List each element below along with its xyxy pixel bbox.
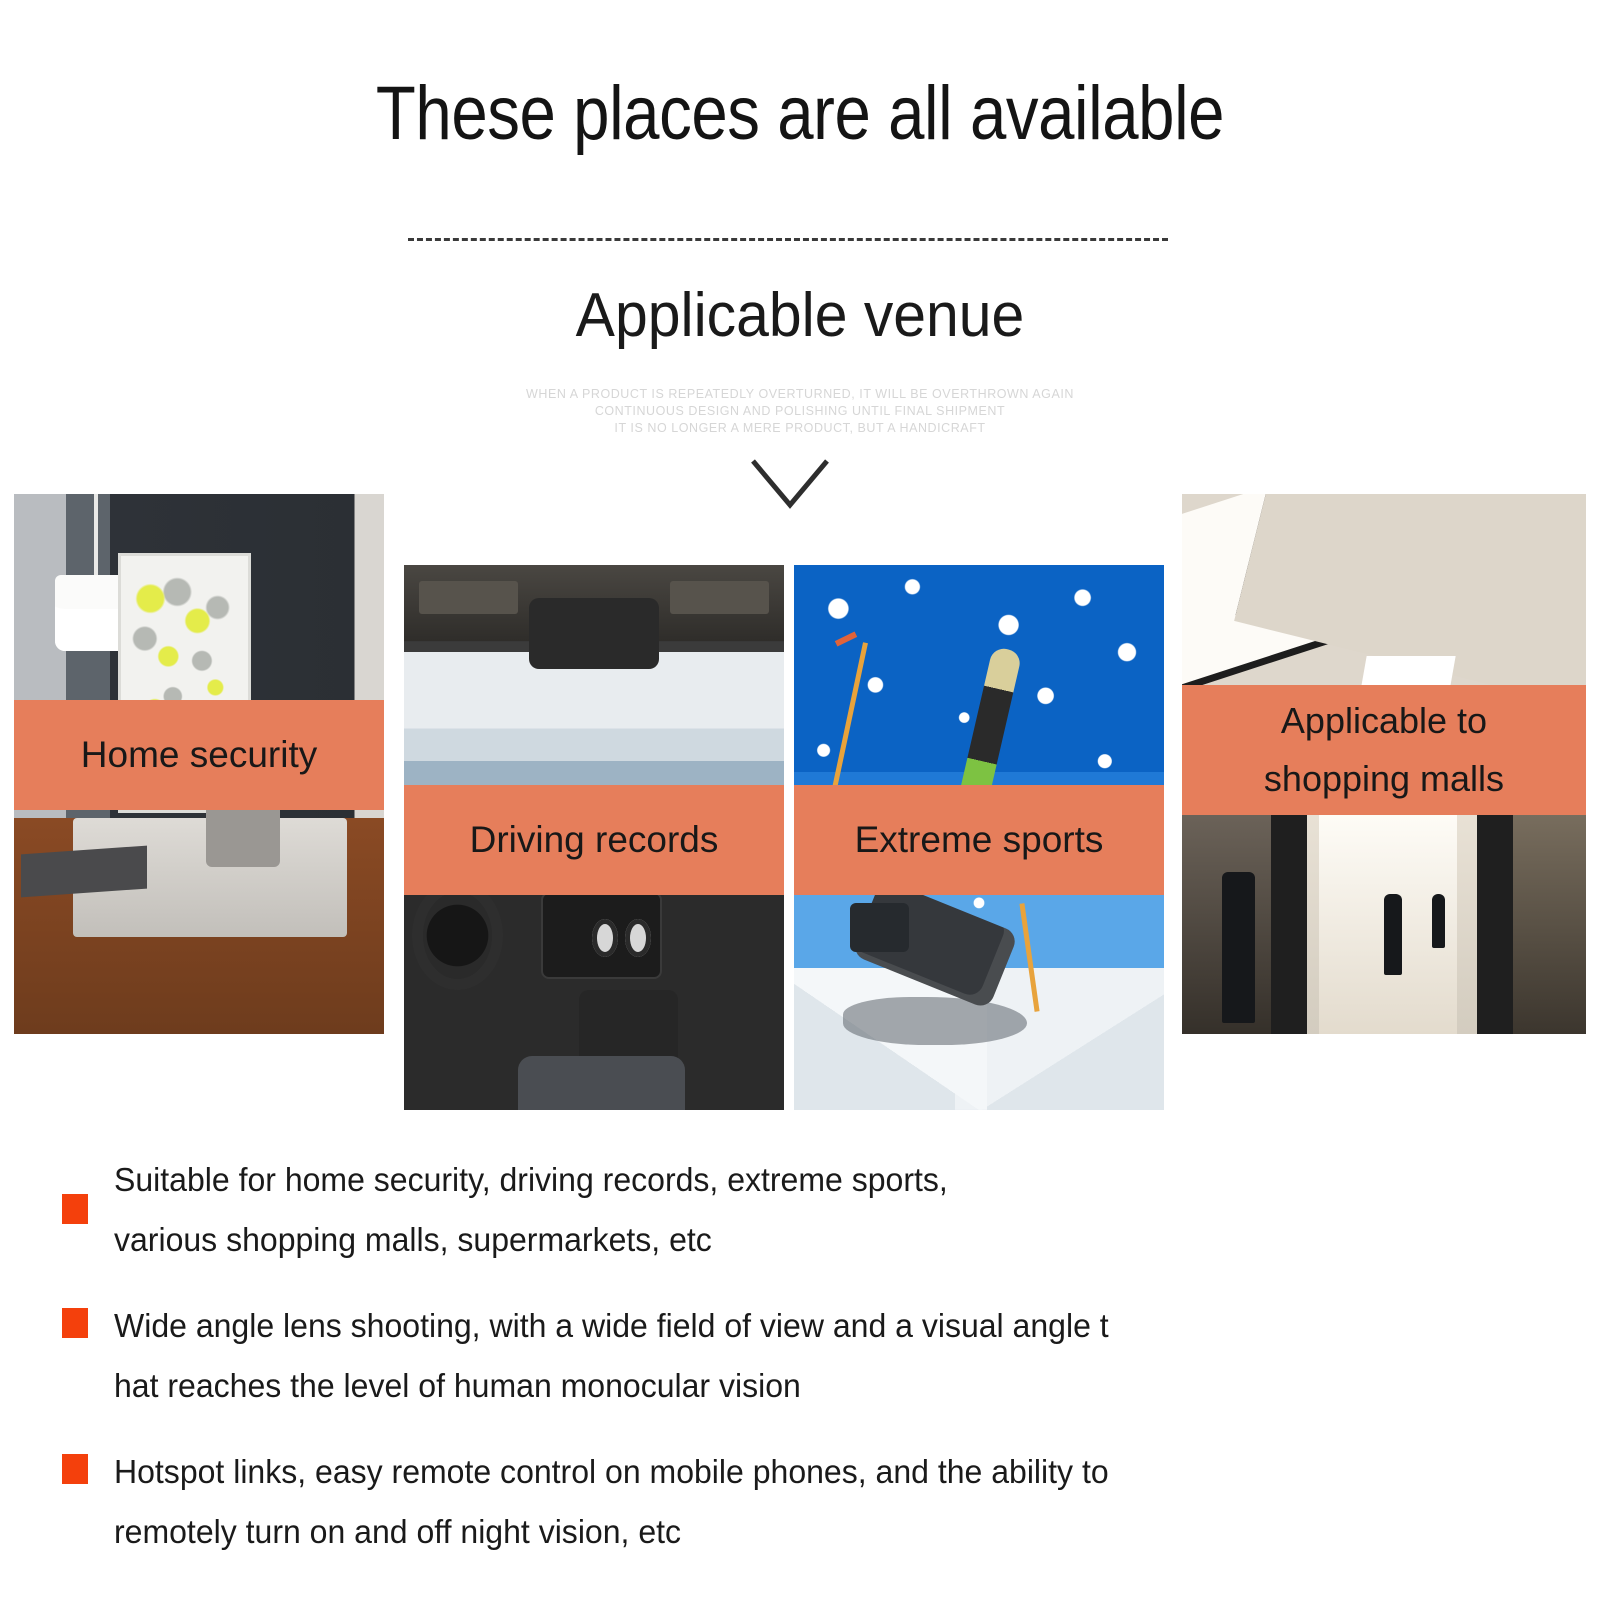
- venue-card-grid: Home security Driving records: [0, 480, 1600, 1120]
- console-dial-right: [625, 919, 651, 957]
- sun-visor-right: [670, 581, 769, 614]
- ski-boot: [850, 903, 909, 952]
- list-item: Suitable for home security, driving reco…: [0, 1150, 1600, 1270]
- applicable-venue-page: These places are all available Applicabl…: [0, 0, 1600, 1600]
- console-dial-left: [592, 919, 618, 957]
- micro-tagline: WHEN A PRODUCT IS REPEATEDLY OVERTURNED,…: [0, 386, 1600, 437]
- sun-visor-left: [419, 581, 518, 614]
- list-item: Wide angle lens shooting, with a wide fi…: [0, 1296, 1600, 1416]
- rearview-mirror: [529, 598, 658, 669]
- feature-bullet-list: Suitable for home security, driving reco…: [0, 1150, 1600, 1588]
- micro-tagline-line-2: CONTINUOUS DESIGN AND POLISHING UNTIL FI…: [0, 403, 1600, 420]
- feature-text: Suitable for home security, driving reco…: [114, 1150, 948, 1270]
- cushion: [206, 802, 280, 867]
- bullet-square-icon: [62, 1308, 88, 1338]
- micro-tagline-line-3: IT IS NO LONGER A MERE PRODUCT, BUT A HA…: [0, 420, 1600, 437]
- venue-card-label-shopping-malls: Applicable to shopping malls: [1182, 685, 1586, 815]
- dashed-divider: [408, 238, 1168, 241]
- shopper-midground: [1384, 894, 1402, 975]
- venue-label-text: Home security: [14, 727, 384, 783]
- page-title: These places are all available: [112, 72, 1488, 156]
- pillar-right: [1477, 807, 1513, 1034]
- steering-wheel: [412, 881, 503, 990]
- venue-card-label-driving-records: Driving records: [404, 785, 784, 895]
- feature-text: Hotspot links, easy remote control on mo…: [114, 1442, 1109, 1562]
- shopper-foreground: [1222, 872, 1254, 1023]
- venue-label-text: Extreme sports: [794, 812, 1164, 868]
- list-item: Hotspot links, easy remote control on mo…: [0, 1442, 1600, 1562]
- micro-tagline-line-1: WHEN A PRODUCT IS REPEATEDLY OVERTURNED,…: [0, 386, 1600, 403]
- venue-card-label-extreme-sports: Extreme sports: [794, 785, 1164, 895]
- car-seat: [518, 1056, 685, 1111]
- venue-label-text-line-2: shopping malls: [1182, 750, 1586, 808]
- section-subtitle: Applicable venue: [40, 278, 1560, 354]
- bullet-square-icon: [62, 1194, 88, 1224]
- feature-text: Wide angle lens shooting, with a wide fi…: [114, 1296, 1109, 1416]
- storefront-right: [1513, 807, 1586, 1034]
- pillar-left: [1271, 807, 1307, 1034]
- shopper-background: [1432, 894, 1444, 948]
- venue-label-text: Driving records: [404, 812, 784, 868]
- venue-label-text-line-1: Applicable to: [1182, 692, 1586, 750]
- gear-shifter: [579, 990, 678, 1066]
- lamp-cord: [94, 494, 98, 586]
- bullet-square-icon: [62, 1454, 88, 1484]
- center-console: [541, 892, 663, 979]
- venue-card-label-home-security: Home security: [14, 700, 384, 810]
